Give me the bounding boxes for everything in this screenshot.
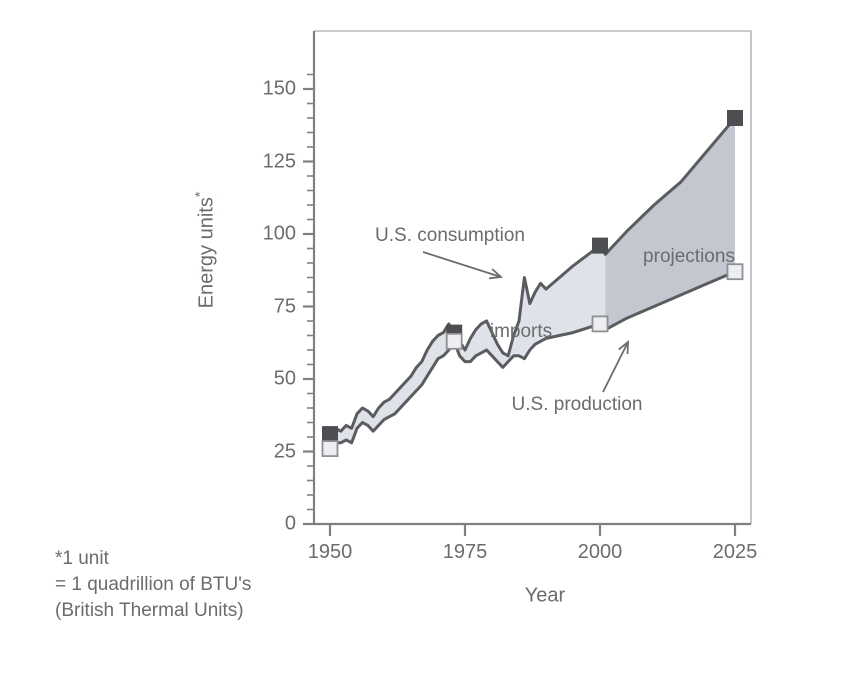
units-footnote: *1 unit = 1 quadrillion of BTU's (Britis… [55, 546, 251, 624]
consumption-leader-arrow [423, 252, 501, 278]
y-axis-title: Energy units* [192, 192, 219, 309]
x-tick-label-2025: 2025 [713, 541, 758, 564]
y-tick-label-0: 0 [285, 513, 296, 536]
projections-label: projections [643, 246, 735, 268]
x-axis-title: Year [525, 585, 565, 608]
production-label: U.S. production [512, 394, 643, 416]
y-tick-label-150: 150 [263, 78, 296, 101]
marker-production-2000 [593, 316, 608, 331]
y-tick-label-25: 25 [274, 440, 296, 463]
marker-production-1950 [323, 441, 338, 456]
y-axis-title-footnote-marker: * [192, 192, 208, 197]
marker-production-1973 [447, 334, 462, 349]
x-tick-label-2000: 2000 [578, 541, 623, 564]
production-leader-arrow [603, 342, 628, 392]
marker-consumption-2000 [593, 238, 608, 253]
y-tick-label-125: 125 [263, 150, 296, 173]
marker-consumption-2025 [728, 111, 743, 126]
x-tick-label-1975: 1975 [443, 541, 488, 564]
imports-label: imports [490, 321, 552, 343]
consumption-label: U.S. consumption [375, 225, 525, 247]
y-axis-title-text: Energy units [195, 197, 217, 308]
y-tick-label-50: 50 [274, 368, 296, 391]
y-tick-label-100: 100 [263, 223, 296, 246]
x-tick-label-1950: 1950 [308, 541, 353, 564]
marker-consumption-1950 [323, 427, 338, 442]
y-tick-label-75: 75 [274, 295, 296, 318]
energy-chart-figure: Energy units* Year 025507510012515019501… [0, 0, 842, 677]
